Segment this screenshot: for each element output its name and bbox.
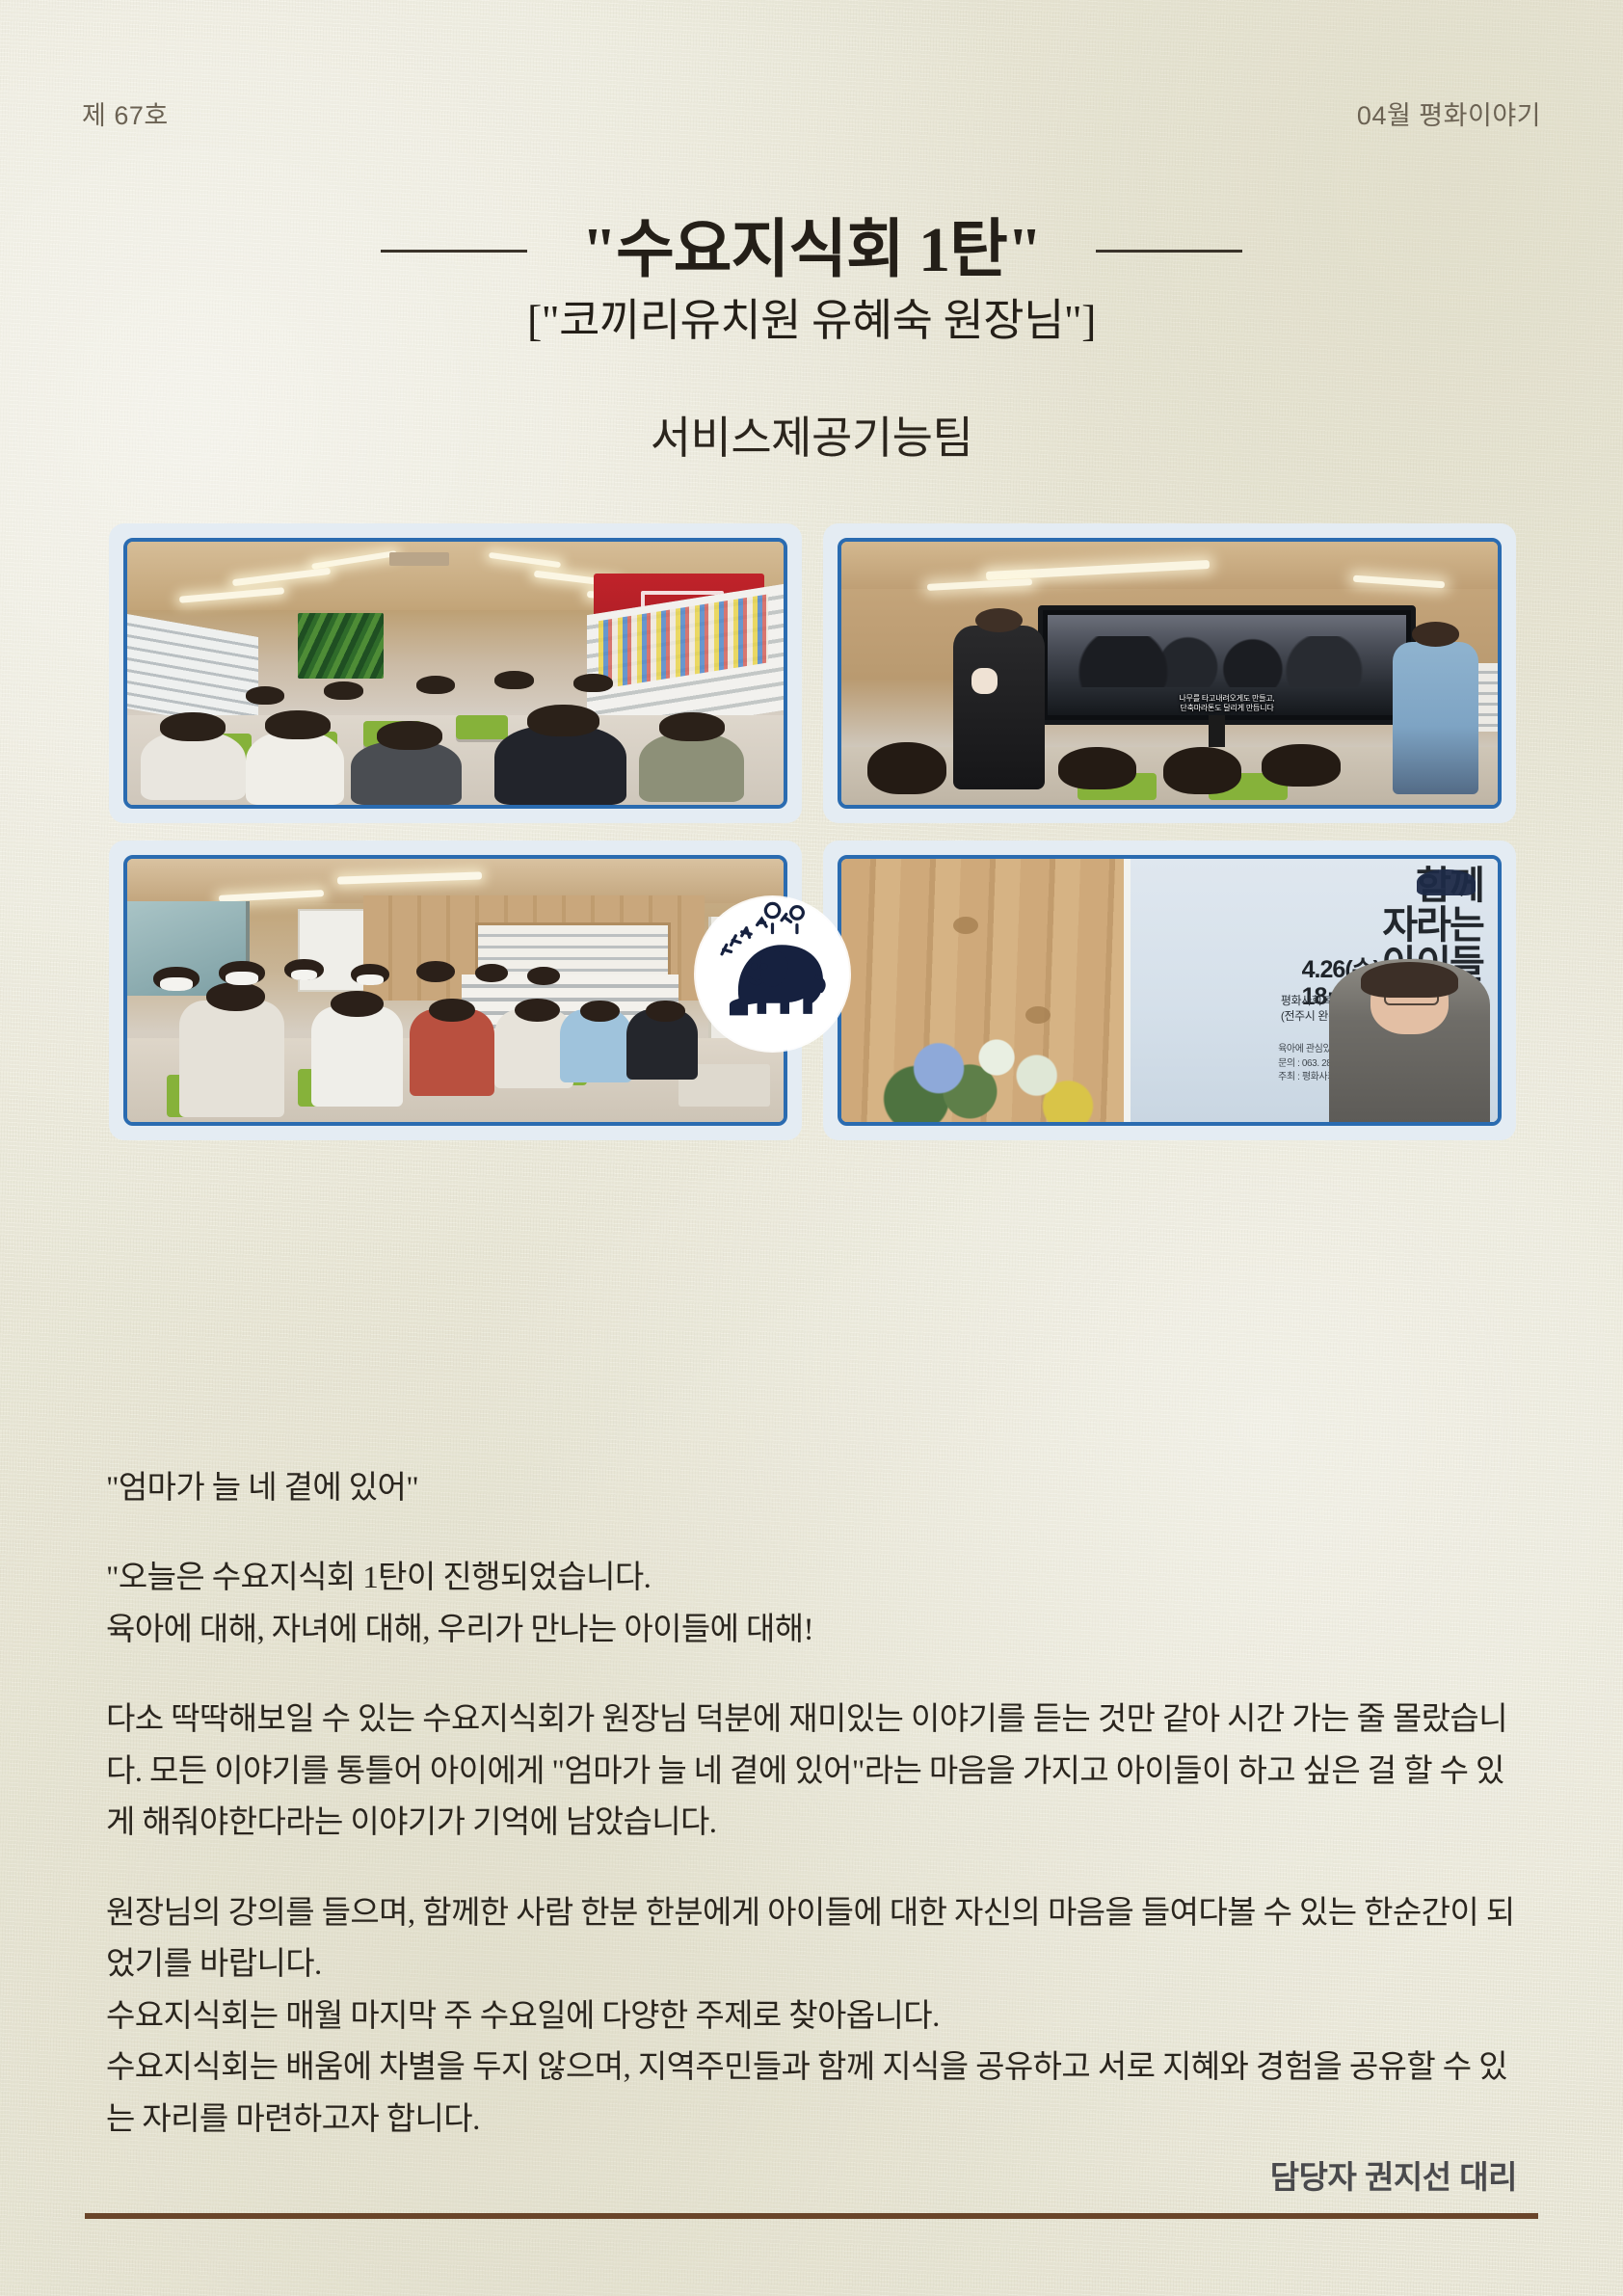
flower-arrangement bbox=[881, 1032, 1104, 1122]
tv-screen: 나무를 타고내려오게도 만들고, 단축마라톤도 달리게 만듭니다 bbox=[1038, 605, 1415, 726]
tv-caption: 나무를 타고내려오게도 만들고, 단축마라톤도 달리게 만듭니다 bbox=[1061, 694, 1392, 713]
photo-presenter-screen: 나무를 타고내려오게도 만들고, 단축마라톤도 달리게 만듭니다 bbox=[838, 538, 1502, 809]
photo-poster-scene: 함께 자라는 아이들 4.26(수) 18:30 평화사회복지관 3층 강당 (… bbox=[841, 859, 1498, 1122]
team-name: 서비스제공기능팀 bbox=[0, 416, 1623, 461]
newsletter-page: 제 67호 04월 평화이야기 "수요지식회 1탄" ["코끼리유치원 유혜숙 … bbox=[0, 0, 1623, 2296]
poster-portrait bbox=[1329, 959, 1491, 1122]
tv-caption-line1: 나무를 타고내려오게도 만들고, bbox=[1061, 694, 1392, 704]
photo-frame-poster: 함께 자라는 아이들 4.26(수) 18:30 평화사회복지관 3층 강당 (… bbox=[823, 841, 1516, 1140]
event-poster: 함께 자라는 아이들 4.26(수) 18:30 평화사회복지관 3층 강당 (… bbox=[1124, 859, 1498, 1122]
page-subtitle: ["코끼리유치원 유혜숙 원장님"] bbox=[0, 299, 1623, 343]
para-5: 수요지식회는 배움에 차별을 두지 않으며, 지역주민들과 함께 지식을 공유하… bbox=[106, 2042, 1523, 2146]
byline: 담당자 권지선 대리 bbox=[1270, 2151, 1517, 2198]
masthead: 제 67호 04월 평화이야기 bbox=[82, 94, 1541, 132]
page-title: "수요지식회 1탄" bbox=[581, 219, 1041, 282]
title-rule-right bbox=[1096, 250, 1242, 253]
elephant-logo-badge bbox=[696, 897, 849, 1051]
issue-number: 제 67호 bbox=[82, 94, 169, 132]
article-body: "엄마가 늘 네 곁에 있어" "오늘은 수요지식회 1탄이 진행되었습니다. … bbox=[106, 1463, 1523, 2146]
staff-figure bbox=[1393, 642, 1478, 794]
glasses-icon bbox=[1384, 992, 1440, 1005]
photo-frame-presenter-screen: 나무를 타고내려오게도 만들고, 단축마라톤도 달리게 만듭니다 bbox=[823, 523, 1516, 823]
presenter-figure bbox=[953, 626, 1045, 788]
photo-frame-seminar-wide bbox=[109, 523, 802, 823]
para-4: 수요지식회는 매월 마지막 주 수요일에 다양한 주제로 찾아옵니다. bbox=[106, 1991, 1523, 2042]
poster-elephant-icon bbox=[1417, 869, 1476, 895]
photo-presenter-screen-scene: 나무를 타고내려오게도 만들고, 단축마라톤도 달리게 만듭니다 bbox=[841, 542, 1498, 805]
elephant-logo-icon bbox=[696, 897, 849, 1051]
poster-title-line2: 자라는 bbox=[1263, 906, 1483, 946]
tv-caption-line2: 단축마라톤도 달리게 만듭니다 bbox=[1061, 704, 1392, 713]
para-3: 원장님의 강의를 들으며, 함께한 사람 한분 한분에게 아이들에 대한 자신의… bbox=[106, 1888, 1523, 1991]
photo-audience-scene bbox=[127, 859, 784, 1122]
photo-seminar-wide bbox=[123, 538, 787, 809]
footer-divider bbox=[85, 2213, 1538, 2219]
photo-seminar-wide-scene bbox=[127, 542, 784, 805]
photo-poster: 함께 자라는 아이들 4.26(수) 18:30 평화사회복지관 3층 강당 (… bbox=[838, 855, 1502, 1126]
title-rule-left bbox=[381, 250, 527, 253]
para-1-line-2: 육아에 대해, 자녀에 대해, 우리가 만나는 아이들에 대해! bbox=[106, 1605, 1523, 1656]
para-1-line-1: "오늘은 수요지식회 1탄이 진행되었습니다. bbox=[106, 1553, 1523, 1604]
photo-audience bbox=[123, 855, 787, 1126]
pull-quote: "엄마가 늘 네 곁에 있어" bbox=[106, 1463, 1523, 1514]
para-2: 다소 딱딱해보일 수 있는 수요지식회가 원장님 덕분에 재미있는 이야기를 듣… bbox=[106, 1695, 1523, 1849]
month-label: 04월 평화이야기 bbox=[1357, 94, 1541, 132]
